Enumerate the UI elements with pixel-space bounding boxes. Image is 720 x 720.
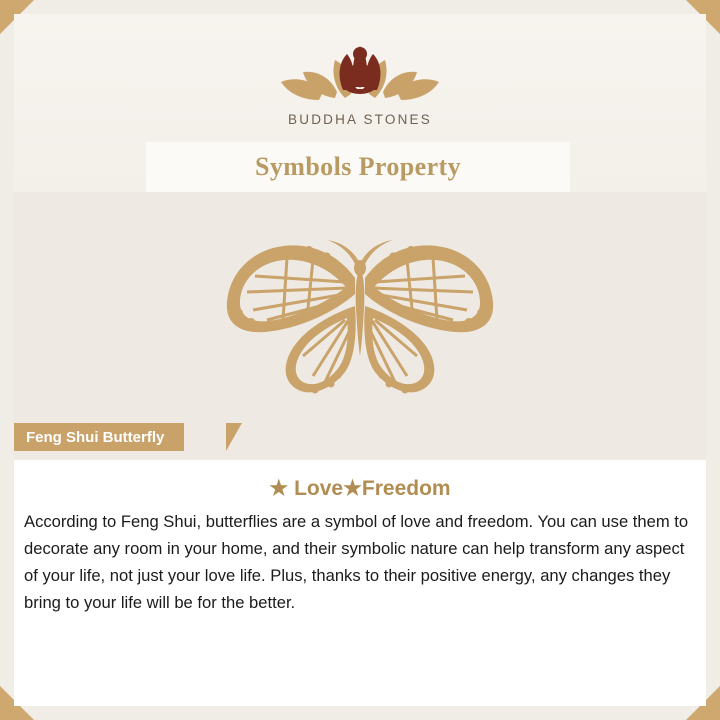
section-title-bar: Symbols Property <box>146 142 570 192</box>
page-title: Symbols Property <box>255 152 461 182</box>
butterfly-icon <box>195 216 525 436</box>
status-badge-tail <box>226 423 242 451</box>
brand-logo: BUDDHA STONES <box>14 32 706 127</box>
page-card: BUDDHA STONES Symbols Property <box>14 14 706 706</box>
description-panel: ★ Love★Freedom According to Feng Shui, b… <box>14 460 706 706</box>
subheading: ★ Love★Freedom <box>14 476 706 501</box>
illustration-area <box>14 192 706 460</box>
status-badge-label: Feng Shui Butterfly <box>26 429 164 446</box>
status-badge: Feng Shui Butterfly <box>14 423 184 451</box>
body-paragraph: According to Feng Shui, butterflies are … <box>14 509 706 617</box>
brand-name: BUDDHA STONES <box>14 112 706 127</box>
lotus-meditation-icon <box>275 32 445 110</box>
